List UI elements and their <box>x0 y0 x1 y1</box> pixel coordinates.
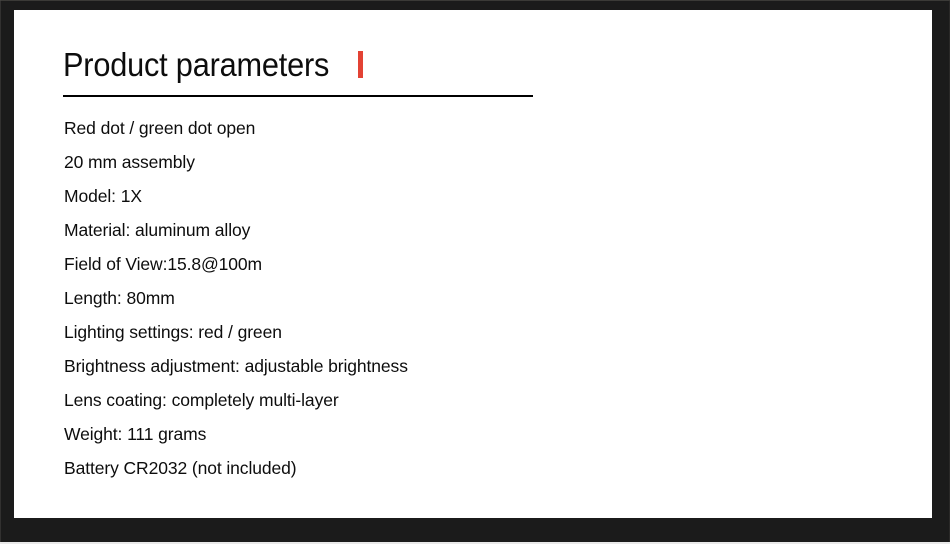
list-item: Material: aluminum alloy <box>64 213 408 247</box>
frame-edge-left <box>0 0 1 544</box>
slide-frame: Product parameters Red dot / green dot o… <box>0 0 950 544</box>
page-title-block: Product parameters <box>63 48 363 81</box>
list-item: Model: 1X <box>64 179 408 213</box>
product-spec-list: Red dot / green dot open 20 mm assembly … <box>64 111 408 485</box>
list-item: Lens coating: completely multi-layer <box>64 383 408 417</box>
slide-content-area: Product parameters Red dot / green dot o… <box>14 10 932 518</box>
list-item: Brightness adjustment: adjustable bright… <box>64 349 408 383</box>
page-title: Product parameters <box>63 48 329 81</box>
list-item: Length: 80mm <box>64 281 408 315</box>
list-item: Field of View:15.8@100m <box>64 247 408 281</box>
list-item: Red dot / green dot open <box>64 111 408 145</box>
list-item: Battery CR2032 (not included) <box>64 451 408 485</box>
red-accent-bar-icon <box>358 51 363 78</box>
list-item: 20 mm assembly <box>64 145 408 179</box>
list-item: Weight: 111 grams <box>64 417 408 451</box>
title-divider <box>63 95 533 97</box>
list-item: Lighting settings: red / green <box>64 315 408 349</box>
